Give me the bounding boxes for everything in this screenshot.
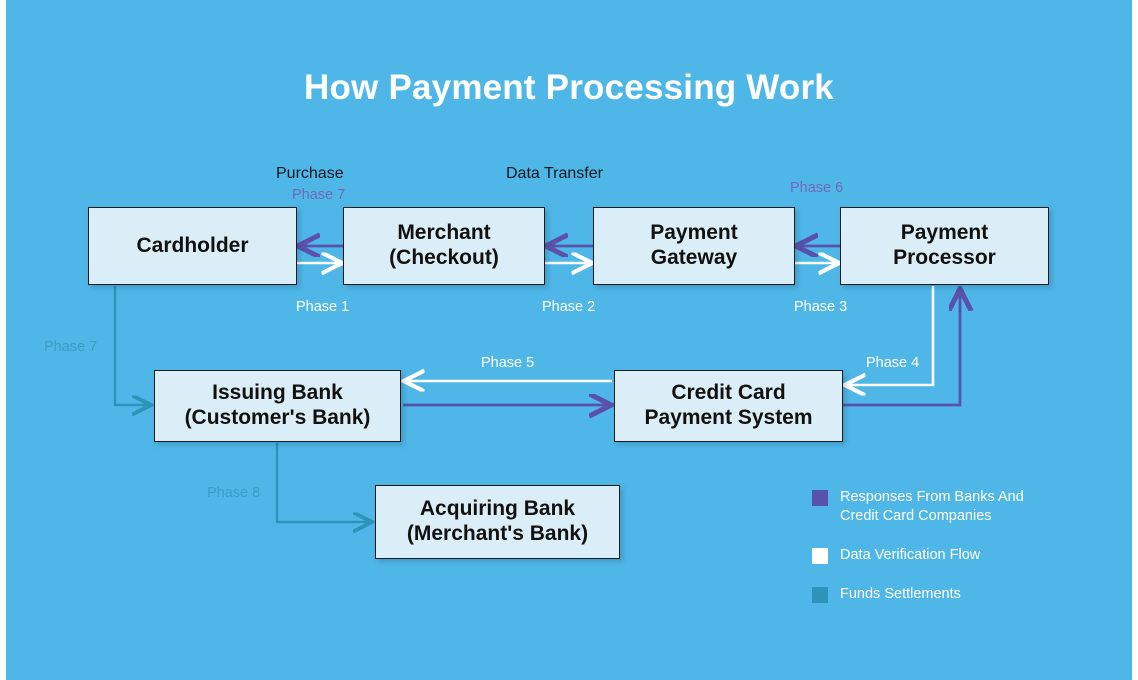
- node-credit-card-payment-system-label: Credit Card Payment System: [644, 381, 812, 431]
- node-merchant-label: Merchant (Checkout): [389, 221, 499, 271]
- legend-label-funds-settlements: Funds Settlements: [840, 585, 961, 604]
- label-data-transfer: Data Transfer: [506, 165, 603, 183]
- node-issuing-bank-label: Issuing Bank (Customer's Bank): [185, 381, 371, 431]
- node-issuing-bank[interactable]: Issuing Bank (Customer's Bank): [154, 370, 401, 442]
- legend: Responses From Banks And Credit Card Com…: [812, 488, 1112, 625]
- node-cardholder[interactable]: Cardholder: [88, 207, 297, 285]
- label-phase-2: Phase 2: [542, 299, 595, 315]
- node-credit-card-payment-system[interactable]: Credit Card Payment System: [614, 370, 843, 442]
- node-payment-gateway-label: Payment Gateway: [650, 221, 738, 271]
- legend-label-responses: Responses From Banks And Credit Card Com…: [840, 488, 1024, 526]
- node-cardholder-label: Cardholder: [136, 234, 248, 259]
- node-payment-gateway[interactable]: Payment Gateway: [593, 207, 795, 285]
- diagram-canvas: How Payment Processing Work: [0, 0, 1138, 680]
- label-phase-7-top: Phase 7: [292, 187, 345, 203]
- legend-swatch-funds-settlements: [812, 587, 828, 603]
- legend-item-data-verification: Data Verification Flow: [812, 546, 1112, 565]
- legend-swatch-responses: [812, 490, 828, 506]
- label-phase-8: Phase 8: [207, 485, 260, 501]
- label-phase-1: Phase 1: [296, 299, 349, 315]
- legend-label-data-verification: Data Verification Flow: [840, 546, 980, 565]
- flow-cardholder-to-issuing-bank: [115, 286, 150, 405]
- node-acquiring-bank-label: Acquiring Bank (Merchant's Bank): [407, 497, 588, 547]
- label-phase-5: Phase 5: [481, 355, 534, 371]
- node-merchant[interactable]: Merchant (Checkout): [343, 207, 545, 285]
- label-phase-6: Phase 6: [790, 180, 843, 196]
- legend-item-funds-settlements: Funds Settlements: [812, 585, 1112, 604]
- node-payment-processor-label: Payment Processor: [893, 221, 996, 271]
- flow-issuing-bank-to-acquiring-bank: [277, 443, 371, 522]
- label-phase-3: Phase 3: [794, 299, 847, 315]
- flow-credit-card-system-to-processor: [843, 290, 960, 405]
- label-purchase: Purchase: [276, 165, 344, 183]
- legend-item-responses: Responses From Banks And Credit Card Com…: [812, 488, 1112, 526]
- node-payment-processor[interactable]: Payment Processor: [840, 207, 1049, 285]
- label-phase-7-left: Phase 7: [44, 339, 97, 355]
- page-title: How Payment Processing Work: [0, 68, 1138, 108]
- node-acquiring-bank[interactable]: Acquiring Bank (Merchant's Bank): [375, 485, 620, 559]
- label-phase-4: Phase 4: [866, 355, 919, 371]
- legend-swatch-data-verification: [812, 548, 828, 564]
